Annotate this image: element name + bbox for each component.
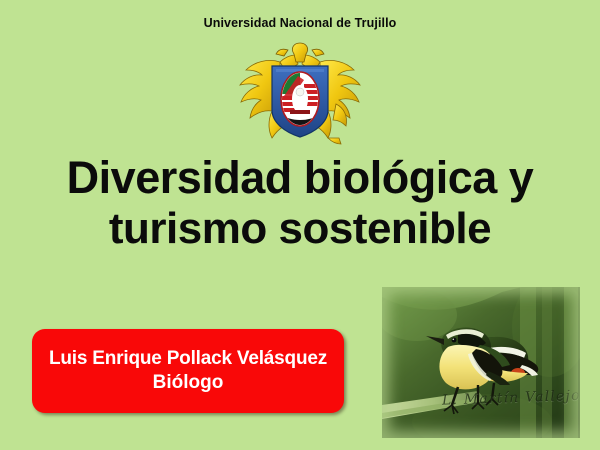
presentation-slide: Universidad Nacional de Trujillo (0, 0, 600, 450)
title-line-2: turismo sostenible (0, 203, 600, 254)
author-name: Luis Enrique Pollack Velásquez (49, 347, 327, 371)
coat-of-arms-logo (232, 42, 368, 150)
university-name-heading: Universidad Nacional de Trujillo (0, 16, 600, 30)
author-name-plaque: Luis Enrique Pollack Velásquez Biólogo (32, 329, 344, 413)
shield-charge-icon (281, 72, 319, 126)
title-line-1: Diversidad biológica y (0, 152, 600, 203)
slide-title: Diversidad biológica y turismo sostenibl… (0, 152, 600, 254)
author-role: Biólogo (153, 371, 224, 395)
bird-photograph: L. Martín Vallejos (382, 287, 580, 438)
